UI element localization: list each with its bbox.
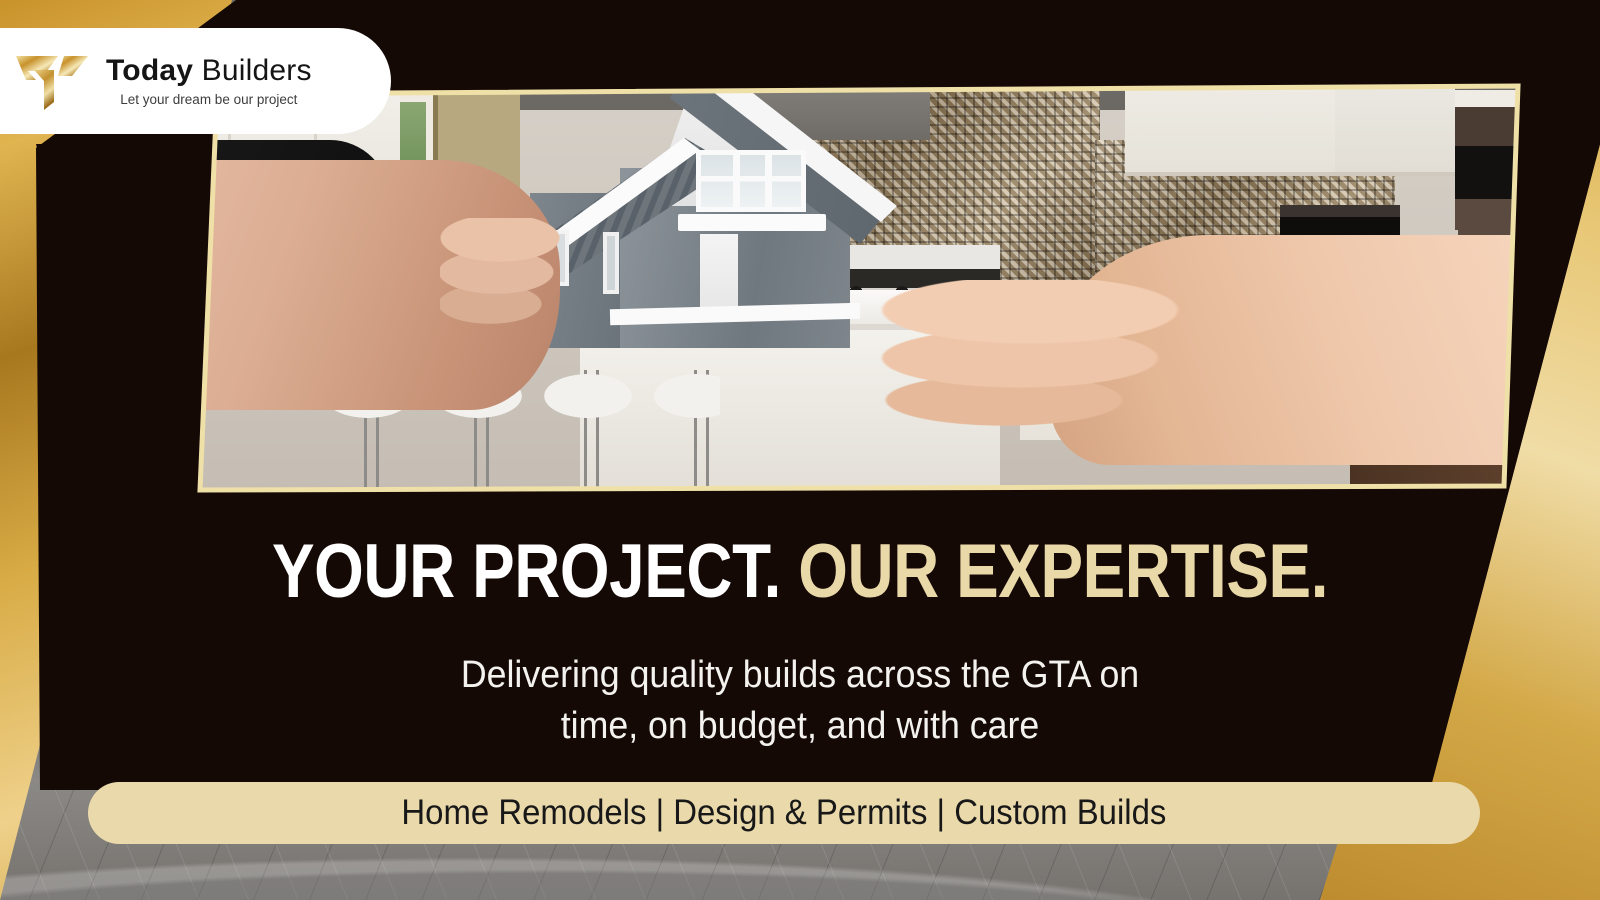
house-window-grille bbox=[701, 155, 801, 207]
brand-logo-text: Today Builders Let your dream be our pro… bbox=[106, 55, 312, 108]
headline: YOUR PROJECT. OUR EXPERTISE. bbox=[128, 534, 1472, 610]
brand-name-regular: Builders bbox=[202, 54, 312, 87]
right-hand-fingers bbox=[880, 280, 1210, 430]
promotional-banner: Today Builders Let your dream be our pro… bbox=[0, 0, 1600, 900]
house-front-door bbox=[700, 234, 738, 314]
subtitle-line-2: time, on budget, and with care bbox=[48, 701, 1552, 752]
brand-name: Today Builders bbox=[106, 55, 312, 87]
services-banner[interactable]: Home Remodels | Design & Permits | Custo… bbox=[88, 782, 1480, 844]
brand-logo[interactable]: Today Builders Let your dream be our pro… bbox=[0, 28, 391, 134]
left-hand-fingers bbox=[440, 218, 610, 348]
headline-white-part: YOUR PROJECT. bbox=[272, 529, 781, 614]
house-front-window bbox=[696, 150, 806, 212]
subtitle-line-1: Delivering quality builds across the GTA… bbox=[48, 650, 1552, 701]
subtitle: Delivering quality builds across the GTA… bbox=[48, 650, 1552, 751]
house-window-sill bbox=[678, 214, 826, 231]
brand-name-bold: Today bbox=[106, 54, 193, 87]
today-builders-t-mark-icon bbox=[14, 50, 90, 112]
headline-gold-part: OUR EXPERTISE. bbox=[798, 529, 1328, 614]
services-text: Home Remodels | Design & Permits | Custo… bbox=[402, 793, 1167, 833]
brand-tagline: Let your dream be our project bbox=[106, 92, 312, 107]
